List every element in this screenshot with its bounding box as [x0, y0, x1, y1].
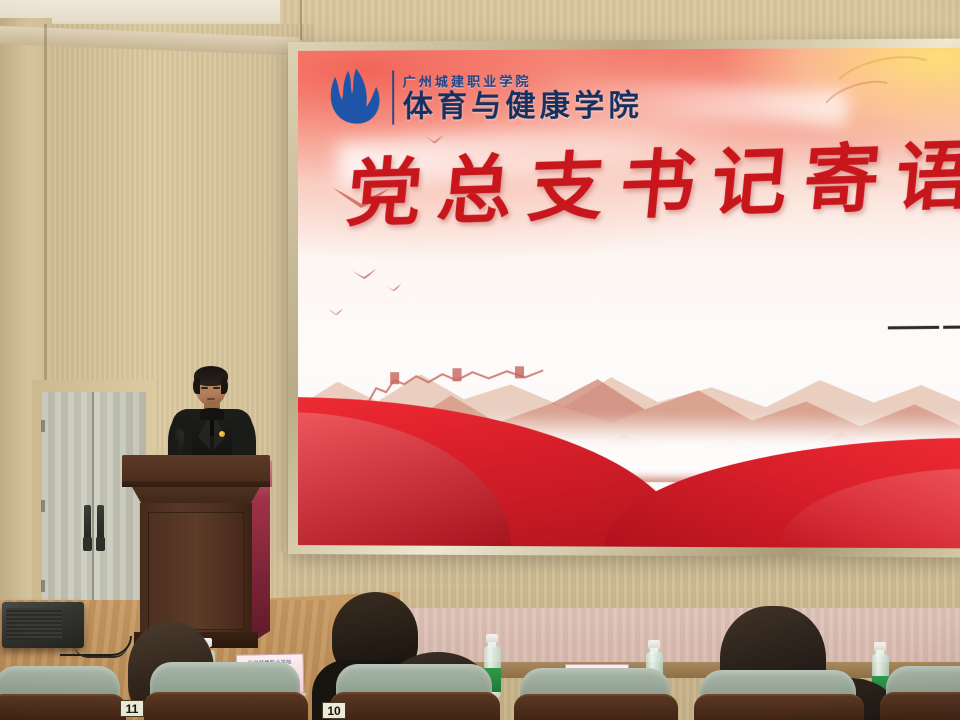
- speaker-mouth: [207, 398, 215, 400]
- door-hinge: [41, 420, 45, 432]
- party-lapel-pin-icon: [219, 431, 225, 437]
- podium-top-edge: [122, 481, 270, 487]
- dove-icon: [424, 134, 444, 144]
- chair-back-panel: [330, 692, 500, 720]
- door-lock-plate: [83, 537, 92, 551]
- speaker-eyebrow: [200, 383, 208, 385]
- chair-back-panel: [514, 694, 678, 720]
- dove-icon: [328, 308, 344, 316]
- institution-logo: 广州城建职业学院 体育与健康学院: [326, 65, 642, 129]
- auditorium-scene: 广州城建职业学院 体育与健康学院 党总支书记寄语: [0, 0, 960, 720]
- door-handle-left[interactable]: [84, 505, 91, 539]
- audio-cable: [74, 644, 128, 658]
- speaker-eye: [201, 387, 208, 389]
- seat-number-badge: 11: [120, 700, 144, 717]
- door-hinge: [41, 580, 45, 592]
- dove-icon: [351, 268, 377, 280]
- chair-back-panel: [144, 692, 308, 720]
- speaker-eye: [213, 387, 220, 389]
- speaker-hair: [221, 378, 228, 394]
- chair-back-panel: [880, 692, 960, 720]
- logo-divider: [393, 70, 395, 124]
- wall-seam: [300, 0, 302, 40]
- chair-back-panel: [694, 694, 864, 720]
- door-hinge: [41, 500, 45, 512]
- seat-number-badge: 10: [322, 702, 346, 719]
- projection-screen-frame: 广州城建职业学院 体育与健康学院 党总支书记寄语: [288, 39, 960, 558]
- slide-main-title: 党总支书记寄语: [343, 139, 960, 233]
- blue-flame-emblem-icon: [326, 66, 384, 128]
- podium-front-panel: [148, 512, 244, 630]
- logo-title: 体育与健康学院: [403, 92, 643, 123]
- logo-subtitle: 广州城建职业学院: [403, 71, 643, 91]
- speaker-hair: [193, 378, 200, 394]
- projection-screen: 广州城建职业学院 体育与健康学院 党总支书记寄语: [298, 48, 960, 549]
- podium-top: [122, 455, 270, 483]
- title-underline-gap: [939, 325, 943, 330]
- speaker-collar: [200, 408, 224, 420]
- door-handle-right[interactable]: [97, 505, 104, 539]
- chair-back-panel: [0, 694, 126, 720]
- speaker-eyebrow: [213, 383, 221, 385]
- dove-icon: [384, 283, 402, 292]
- speaker-grille-icon: [6, 608, 62, 640]
- door-lock-plate: [96, 537, 105, 551]
